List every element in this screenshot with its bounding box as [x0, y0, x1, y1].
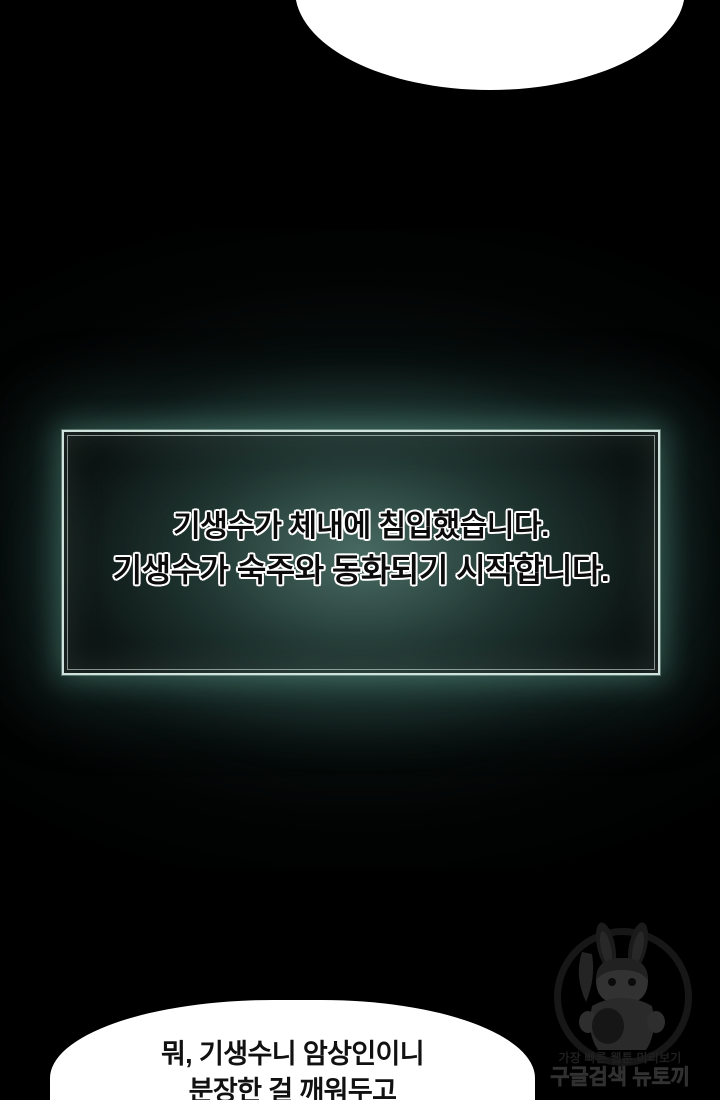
system-message-text: 기생수가 체내에 침입했습니다. 기생수가 숙주와 동화되기 시작합니다. — [64, 508, 658, 591]
speech-bubble-bottom-line-1: 뭐, 기생수니 암상인이니 — [50, 1036, 535, 1073]
watermark-text: 가장 빠른 웹툰 미리보기 구글검색 뉴토끼 — [532, 1052, 708, 1090]
system-message-line-2: 기생수가 숙주와 동화되기 시작합니다. — [64, 550, 658, 591]
watermark-tagline: 가장 빠른 웹툰 미리보기 — [532, 1052, 708, 1065]
speech-bubble-top: 가겹지도 않았다면. — [295, 0, 685, 90]
watermark-brand: 구글검색 뉴토끼 — [532, 1066, 708, 1090]
watermark-ring-icon — [554, 928, 692, 1066]
speech-bubble-bottom-line-2: 분장한 걸 깨워두고 — [50, 1073, 535, 1100]
watermark: 가장 빠른 웹툰 미리보기 구글검색 뉴토끼 — [532, 914, 712, 1096]
comic-panel: 가겹지도 않았다면. 기생수가 체내에 침입했습니다. 기생수가 숙주와 동화되… — [0, 0, 720, 1100]
rabbit-girl-mascot-icon — [562, 922, 682, 1054]
speech-bubble-bottom-text: 뭐, 기생수니 암상인이니 분장한 걸 깨워두고 — [50, 1036, 535, 1100]
system-message-box: 기생수가 체내에 침입했습니다. 기생수가 숙주와 동화되기 시작합니다. — [62, 430, 660, 675]
system-message-line-1: 기생수가 체내에 침입했습니다. — [64, 508, 658, 546]
speech-bubble-bottom: 뭐, 기생수니 암상인이니 분장한 걸 깨워두고 — [50, 1000, 535, 1100]
